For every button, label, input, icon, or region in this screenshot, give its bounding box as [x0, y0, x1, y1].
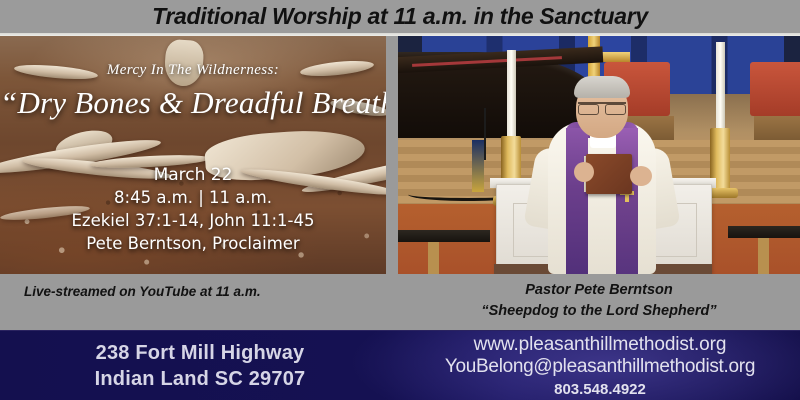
paraments-banner [472, 140, 484, 192]
chancel-chair [750, 62, 800, 116]
purple-stole [566, 128, 588, 274]
contact-block: www.pleasanthillmethodist.org YouBelong@… [400, 331, 800, 400]
worship-flyer: Traditional Worship at 11 a.m. in the Sa… [0, 0, 800, 400]
candle [507, 50, 516, 136]
pastor-caption: Pastor Pete Berntson “Sheepdog to the Lo… [398, 280, 800, 322]
pastor-quote: “Sheepdog to the Lord Shepherd” [398, 301, 800, 322]
eyeglasses-icon [578, 102, 626, 113]
website-url[interactable]: www.pleasanthillmethodist.org [474, 334, 727, 356]
pastor-name: Pastor Pete Berntson [398, 280, 800, 301]
email-address[interactable]: YouBelong@pleasanthillmethodist.org [445, 356, 755, 378]
scripture-readings: Ezekiel 37:1-14, John 11:1-45 [0, 210, 386, 233]
address-line-1: 238 Fort Mill Highway [96, 340, 305, 366]
pastor-hand [630, 166, 652, 186]
chair-legs [754, 116, 800, 142]
service-details: March 22 8:45 a.m. | 11 a.m. Ezekiel 37:… [0, 164, 386, 256]
contact-banner: 238 Fort Mill Highway Indian Land SC 297… [0, 330, 800, 400]
desert-bones-photo: Mercy In The Wildnerness: “Dry Bones & D… [0, 36, 386, 274]
proclaimer-name: Pete Berntson, Proclaimer [0, 233, 386, 256]
communion-rail [398, 230, 490, 242]
service-date: March 22 [0, 164, 386, 187]
phone-number[interactable]: 803.548.4922 [554, 381, 646, 399]
candle [716, 42, 725, 128]
sermon-heading-group: Mercy In The Wildnerness: “Dry Bones & D… [0, 36, 386, 121]
series-kicker: Mercy In The Wildnerness: [0, 62, 386, 79]
sermon-title: “Dry Bones & Dreadful Breath” [0, 85, 386, 121]
pastor-hair [574, 76, 630, 98]
microphone-stand [484, 108, 486, 160]
live-stream-note: Live-streamed on YouTube at 11 a.m. [24, 284, 261, 299]
rail-leg [428, 242, 439, 274]
address-line-2: Indian Land SC 29707 [95, 366, 306, 392]
pastor-hand [574, 162, 594, 182]
header-title: Traditional Worship at 11 a.m. in the Sa… [152, 3, 648, 30]
service-times: 8:45 a.m. | 11 a.m. [0, 187, 386, 210]
pastor-at-pulpit-photo [398, 36, 800, 274]
communion-rail [728, 226, 800, 238]
rail-leg [758, 238, 769, 274]
header-bar: Traditional Worship at 11 a.m. in the Sa… [0, 0, 800, 33]
address-block: 238 Fort Mill Highway Indian Land SC 297… [0, 331, 400, 400]
